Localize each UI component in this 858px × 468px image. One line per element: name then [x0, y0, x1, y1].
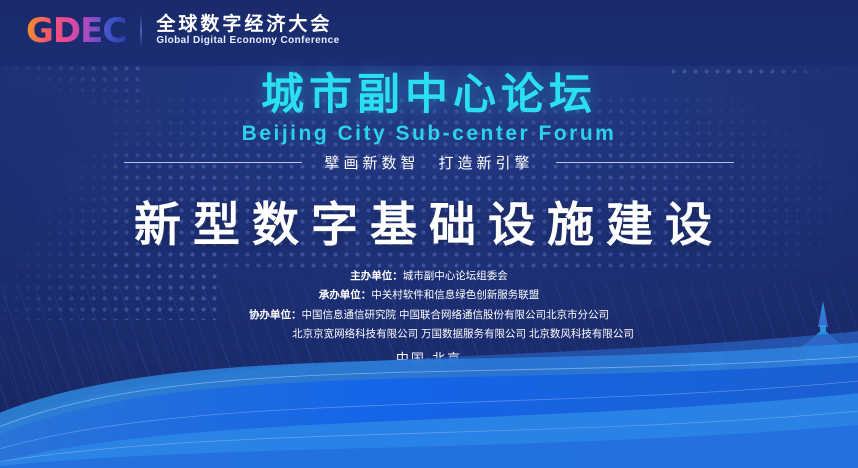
- slogan-text: 擘画新数智 打造新引擎: [324, 152, 533, 173]
- bottom-artwork: [0, 283, 858, 468]
- conference-name-cn: 全球数字经济大会: [156, 15, 339, 35]
- organizer-value: 城市副中心论坛组委会: [403, 268, 508, 284]
- conference-name-en: Global Digital Economy Conference: [156, 36, 339, 47]
- forum-title-cn: 城市副中心论坛: [0, 72, 858, 118]
- logo-divider: [140, 14, 142, 48]
- forum-title-block: 城市副中心论坛 Beijing City Sub-center Forum: [0, 72, 858, 146]
- slogan-rule-right: [556, 162, 734, 163]
- slogan-row: 擘画新数智 打造新引擎: [0, 152, 858, 173]
- conference-poster: GDEC 全球数字经济大会 Global Digital Economy Con…: [0, 0, 858, 468]
- conference-logo-lockup: GDEC 全球数字经济大会 Global Digital Economy Con…: [26, 14, 340, 48]
- forum-title-en: Beijing City Sub-center Forum: [0, 122, 858, 146]
- skyline-and-waves-svg: [0, 283, 858, 468]
- organizer-label: 主办单位：: [350, 268, 403, 284]
- poster-header: GDEC 全球数字经济大会 Global Digital Economy Con…: [0, 0, 858, 66]
- gdec-logo: GDEC: [26, 14, 126, 48]
- conference-name-group: 全球数字经济大会 Global Digital Economy Conferen…: [156, 15, 339, 46]
- main-headline: 新型数字基础设施建设: [0, 186, 858, 255]
- slogan-rule-left: [124, 162, 302, 163]
- organizer-row: 主办单位： 城市副中心论坛组委会: [350, 268, 508, 284]
